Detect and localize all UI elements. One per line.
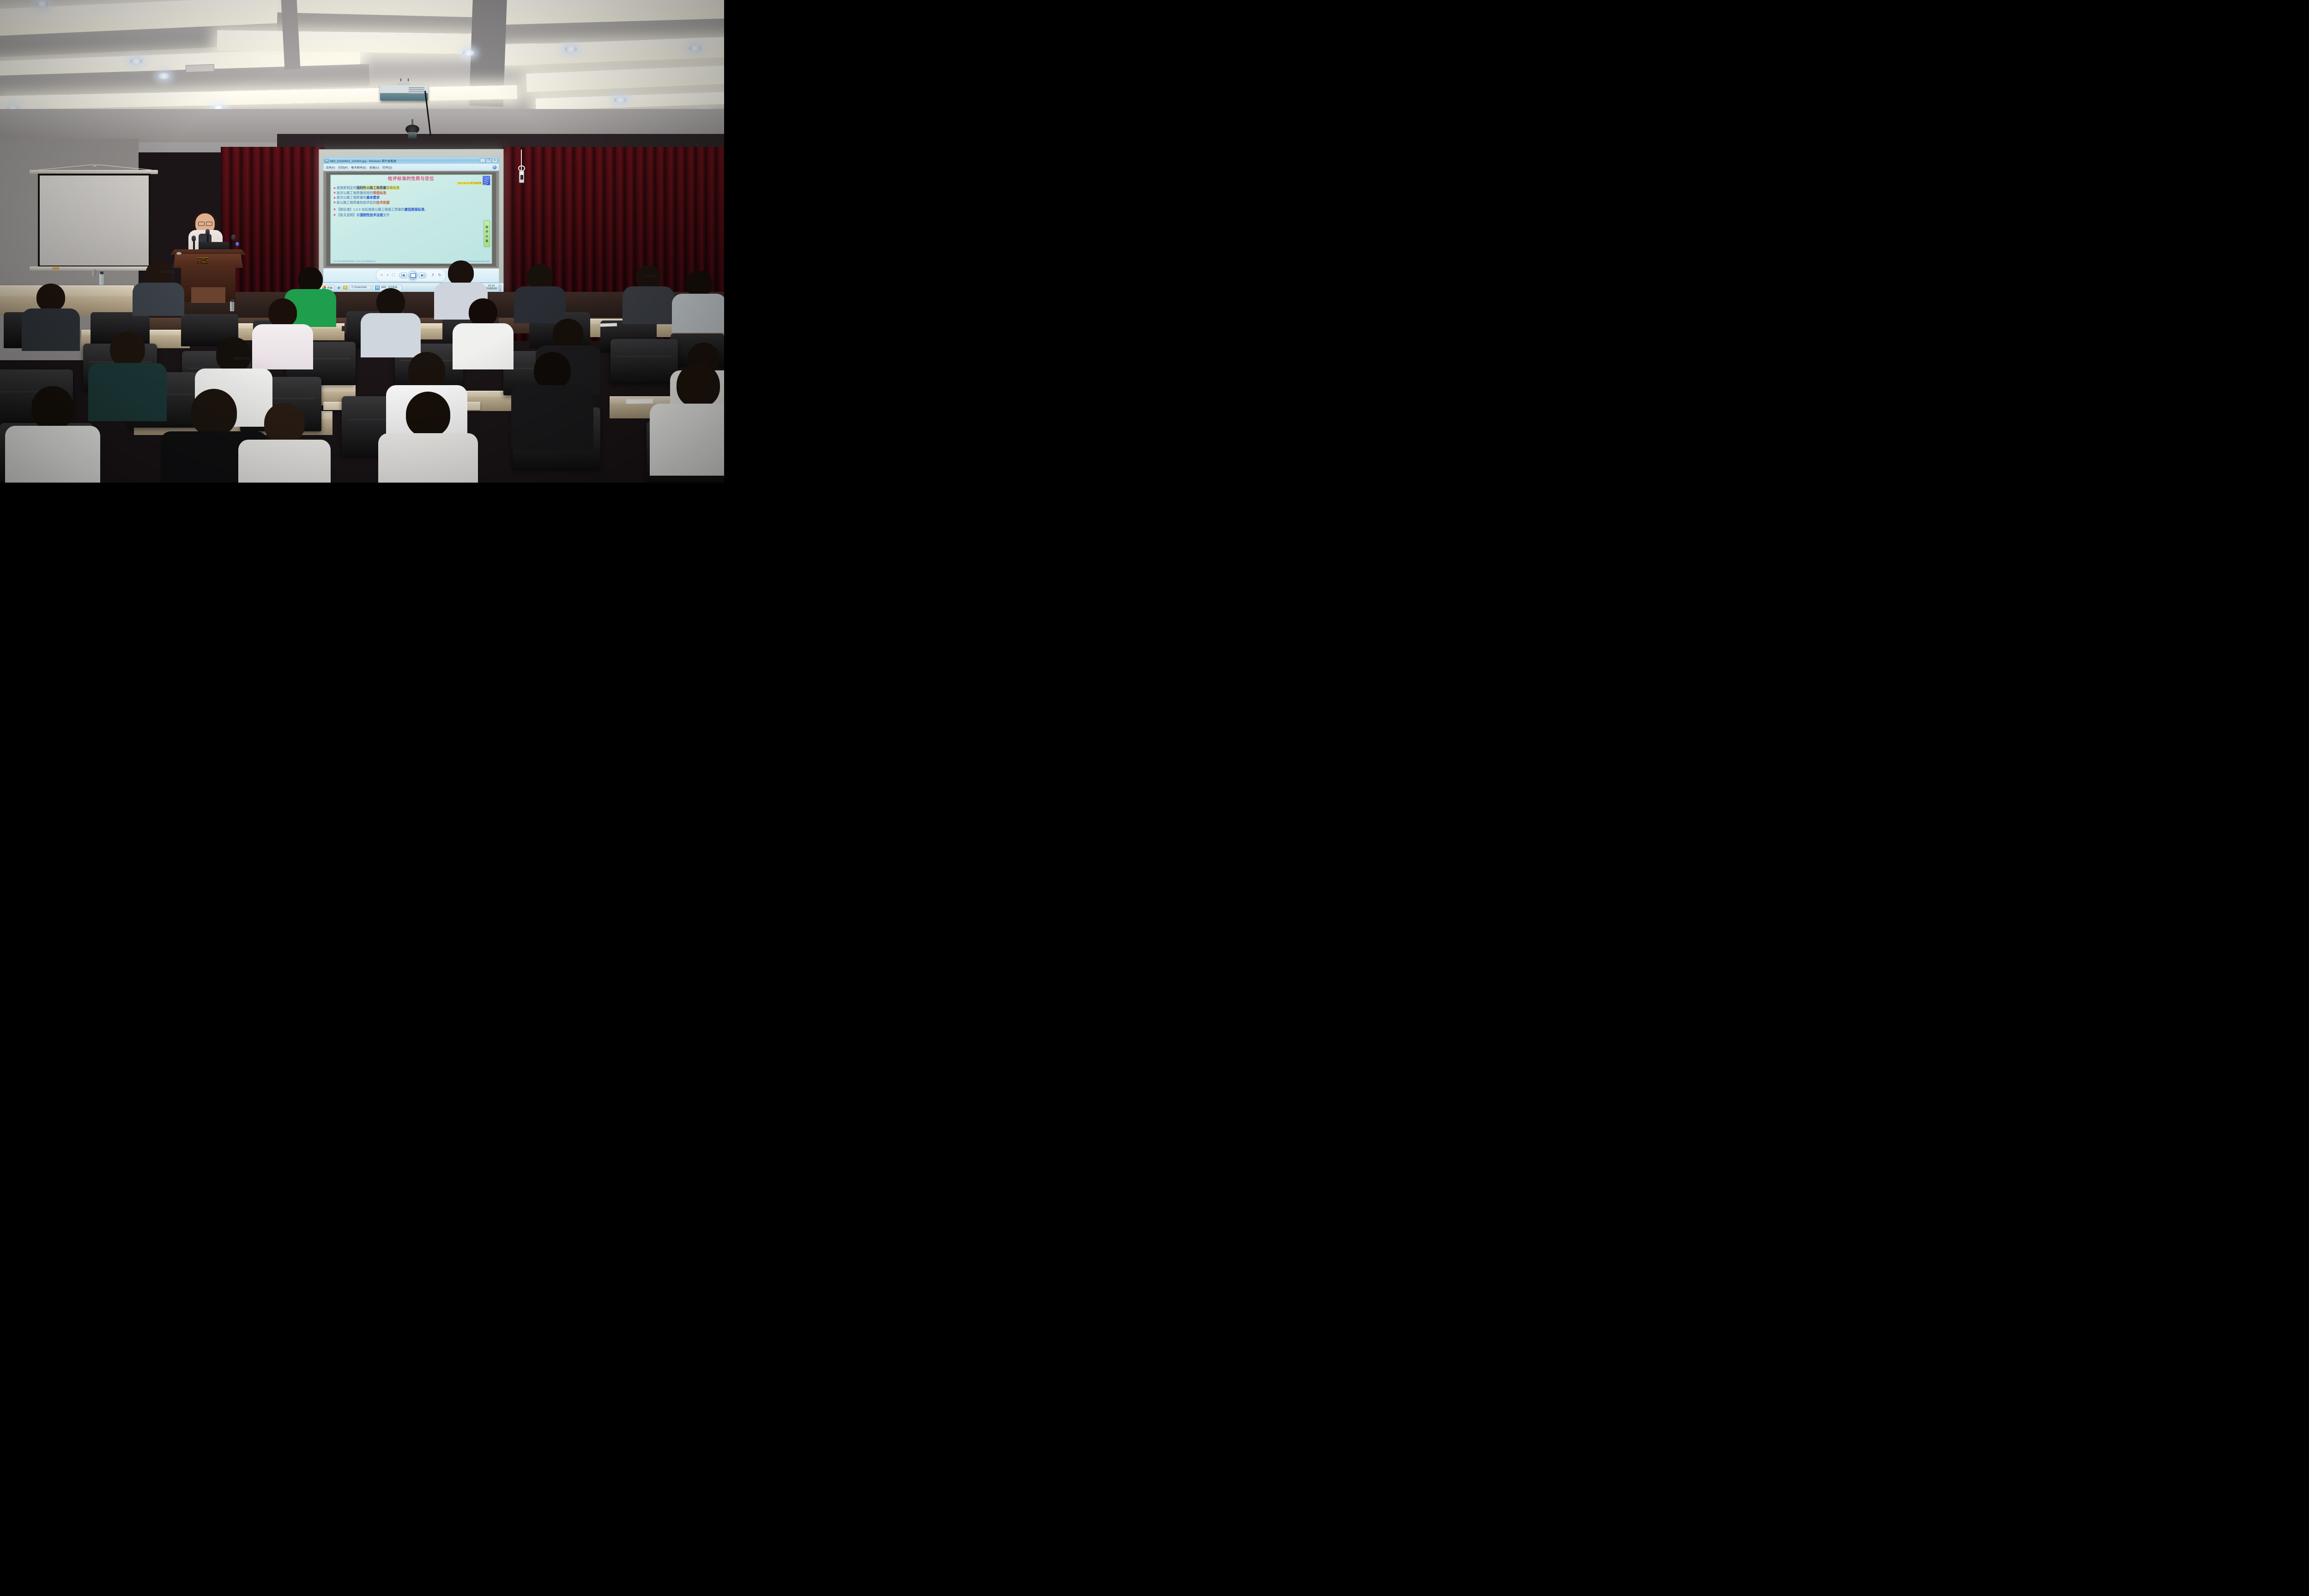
bullet-icon — [333, 187, 335, 189]
note-tail: 。 — [424, 207, 428, 212]
audience-member — [679, 271, 719, 322]
next-image-button[interactable]: ▶| — [419, 272, 427, 278]
bullet-mid: 强制性公路工程质量 — [357, 186, 387, 190]
bullet-pre: 是公路工程质量检验评定的 — [337, 200, 376, 205]
bullet-mid: 限值标准 — [373, 191, 387, 195]
window-title: IMG_20180601_100404.jpg - Windows 照片查看器 — [330, 159, 396, 163]
audience-member — [526, 352, 578, 431]
slide-date-stamp: 2013-05-03 研讨会纪要 — [457, 182, 482, 185]
help-icon[interactable]: ? — [492, 165, 496, 169]
bullet-icon — [333, 214, 335, 216]
side-badge-c2: 评 — [485, 230, 488, 234]
microphone-head — [206, 229, 210, 235]
slide-title: 检评标准的性质与定位 — [333, 177, 489, 182]
podium-logo-text: RS — [197, 256, 208, 266]
bullet-icon — [333, 208, 335, 210]
note-emph: 最低限值标准 — [405, 207, 424, 212]
slide-bullet: 是对公路工程质量的基本要求 — [333, 196, 489, 199]
audience-member — [369, 288, 412, 346]
photo-viewer-icon — [325, 159, 328, 163]
conference-room-scene: IMG_20180601_100404.jpg - Windows 照片查看器 … — [0, 0, 724, 483]
minimize-button[interactable]: _ — [480, 158, 485, 163]
ceiling-downlight — [689, 45, 701, 51]
ceiling-downlight — [463, 50, 475, 56]
audience-member — [261, 298, 304, 357]
chevron-down-icon[interactable]: ▾ — [387, 274, 388, 276]
slide-bullet: 是国家制定的强制性公路工程质量验收标准 — [333, 186, 489, 190]
folder-icon[interactable] — [343, 286, 347, 290]
side-badge-c1: 验 — [485, 225, 488, 229]
audience-member — [520, 264, 560, 316]
menu-item-burn[interactable]: 刻录(U) — [369, 165, 379, 169]
slide-content: 检评标准的性质与定位 2013-05-03 研讨会纪要 验 评 分 离 是国家制… — [330, 175, 492, 264]
chair[interactable] — [610, 339, 678, 382]
bullet-mid: 技术依据 — [376, 200, 390, 205]
bullet-pre: 是对公路工程质量的 — [337, 195, 367, 199]
ceiling-projector — [380, 81, 428, 102]
window-controls[interactable]: _ ❐ ✕ — [480, 158, 497, 163]
previous-image-button[interactable]: |◀ — [399, 272, 407, 278]
bullet-mid: 基本要求 — [366, 195, 380, 199]
audience-member-foreground — [671, 363, 724, 452]
slide-note: 【条文说明】是强制性技术法规文件 — [333, 213, 489, 217]
ceiling-speaker — [405, 119, 420, 139]
menu-bar[interactable]: 文件(F) 打印(P) 电子邮件(E) 刻录(U) 打开(O) ? — [323, 164, 499, 171]
taskbar-item-explorer[interactable]: C:\Users\Ad... — [349, 285, 371, 290]
microphone-left — [192, 236, 196, 242]
menu-item-print[interactable]: 打印(P) — [338, 165, 348, 169]
notebook — [600, 323, 617, 326]
podium-logo: RS — [197, 256, 218, 265]
audience-member — [30, 284, 72, 341]
slide-side-badge: 验 评 分 离 — [484, 220, 490, 247]
podium-panel — [191, 287, 225, 303]
bullet-pre: 是国家制定的 — [337, 186, 357, 190]
paper-sheet — [626, 399, 653, 404]
show-desktop-button[interactable] — [499, 284, 501, 291]
ceiling-downlight — [565, 46, 577, 52]
note-label: 【条文说明】 — [337, 213, 357, 217]
podium-knob — [176, 252, 181, 255]
ceiling-downlight — [36, 1, 48, 7]
slide-bullet: 是对公路工程质量验收的限值标准 — [333, 191, 489, 195]
mouse-cursor — [430, 274, 434, 278]
window-titlebar[interactable]: IMG_20180601_100404.jpg - Windows 照片查看器 … — [323, 157, 499, 164]
side-badge-c3: 分 — [485, 234, 488, 238]
audience-member-foreground — [26, 386, 79, 476]
audience-member — [462, 298, 504, 357]
ceiling-downlight — [614, 97, 626, 103]
side-badge-c4: 离 — [485, 239, 488, 243]
note-text: 是 — [357, 213, 360, 217]
note-label: 【新标准】1.0.3 — [337, 207, 361, 212]
audience-member — [139, 261, 178, 312]
taskbar-item-label: C:\Users\Ad... — [351, 286, 369, 289]
restore-button[interactable]: ❐ — [486, 158, 491, 163]
bullet-post: 验收标准 — [386, 186, 399, 190]
water-bottle — [230, 301, 234, 311]
bullet-pre: 是对公路工程质量验收的 — [337, 191, 373, 195]
zoom-icon[interactable]: ⌕ — [381, 273, 383, 277]
slide-bullet: 是公路工程质量检验评定的技术依据 — [333, 201, 489, 205]
menu-item-email[interactable]: 电子邮件(E) — [351, 165, 366, 169]
note-tail: 文件 — [383, 213, 389, 217]
audience-member-foreground — [184, 389, 244, 483]
presenter-glasses — [198, 222, 212, 225]
close-button[interactable]: ✕ — [492, 158, 497, 163]
slide-lower-notes: 【新标准】1.0.3 本标准是公路工程施工质量的最低限值标准。 【条文说明】是强… — [333, 208, 489, 217]
desk-object — [342, 326, 345, 331]
highway-logo-icon — [483, 176, 490, 185]
note-emph: 强制性技术法规 — [360, 213, 383, 217]
slide-note: 【新标准】1.0.3 本标准是公路工程施工质量的最低限值标准。 — [333, 208, 489, 212]
slide-bullet-list: 是国家制定的强制性公路工程质量验收标准 是对公路工程质量验收的限值标准 是对公路… — [333, 186, 489, 205]
internet-explorer-icon[interactable]: e — [336, 285, 341, 290]
note-text: 本标准是公路工程施工质量的 — [362, 207, 405, 212]
photo-canvas: 检评标准的性质与定位 2013-05-03 研讨会纪要 验 评 分 离 是国家制… — [323, 171, 499, 268]
bullet-icon — [333, 192, 335, 193]
water-bottle — [99, 273, 103, 285]
fit-to-window-icon[interactable]: ⛶ — [393, 273, 395, 277]
bullet-icon — [333, 197, 335, 199]
bullet-icon — [333, 201, 335, 203]
photographed-slide: 检评标准的性质与定位 2013-05-03 研讨会纪要 验 评 分 离 是国家制… — [326, 172, 496, 266]
menu-item-file[interactable]: 文件(F) — [326, 165, 335, 169]
ceiling-downlight — [130, 58, 142, 64]
audience-member — [103, 332, 152, 405]
menu-item-open[interactable]: 打开(O) — [382, 165, 392, 169]
ceiling-downlight — [158, 73, 170, 79]
footer-left: 北京市公路工程质量监督检测站 / 北京市公路工程质量检测中心 — [332, 260, 376, 262]
microphone-right — [231, 235, 236, 241]
audience-member-foreground — [399, 392, 457, 483]
audience-member-foreground — [257, 403, 312, 483]
wall-remote-on-cable[interactable] — [518, 150, 526, 186]
tripod-projection-screen — [33, 170, 154, 271]
slideshow-button[interactable] — [408, 270, 418, 280]
microphone-indicator — [236, 242, 239, 246]
audience-member — [629, 265, 668, 317]
